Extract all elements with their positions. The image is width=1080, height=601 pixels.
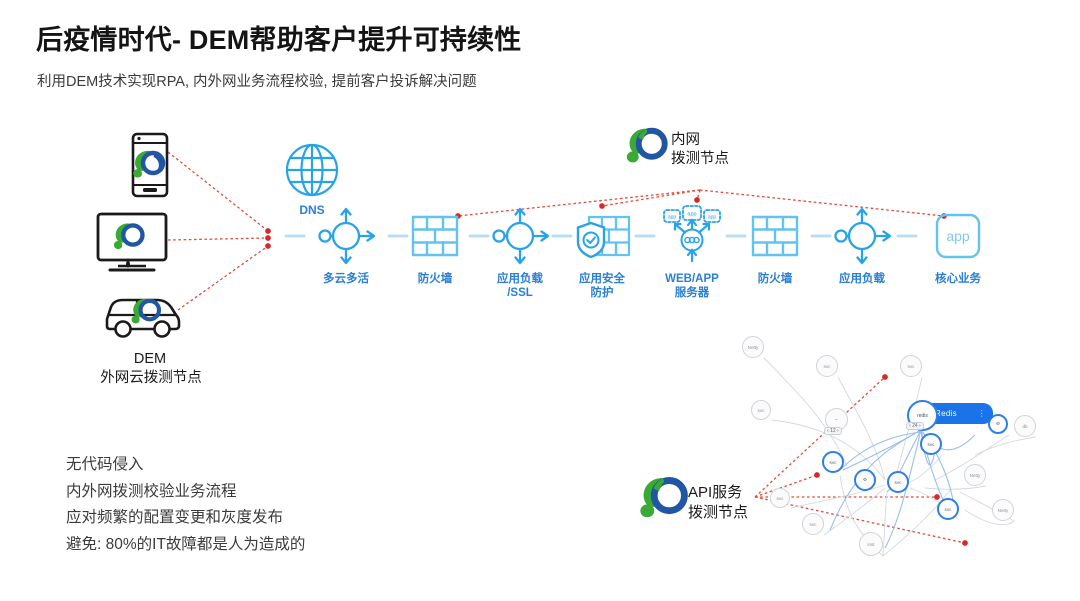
node-label-firewall1: 防火墙 [405, 272, 465, 286]
benefits-list: 无代码侵入 内外网拨测校验业务流程 应对频繁的配置变更和灰度发布 避免: 80%… [66, 452, 305, 558]
brick-wall-icon [413, 217, 457, 255]
node-label-appsec-2: 防护 [572, 286, 632, 300]
topology-node[interactable]: svc [822, 451, 844, 473]
node-label-appsec: 应用安全 [572, 272, 632, 286]
router-arrows-icon [494, 209, 549, 263]
internal-probe-line2: 拨测节点 [671, 150, 729, 169]
brand-logo-icon [640, 478, 684, 517]
topology-node[interactable]: svc [816, 355, 838, 377]
shield-wall-icon [578, 217, 629, 257]
app-servers-icon: app app app [664, 206, 720, 261]
probe-link-external [168, 152, 268, 310]
node-label-lb2: 应用负载 [832, 272, 892, 286]
topology-group-badge: ‹ 12 › [824, 427, 842, 435]
node-label-lb-ssl: 应用负载 [490, 272, 550, 286]
globe-icon [287, 145, 337, 195]
topology-node[interactable]: Netty [992, 499, 1014, 521]
node-label-webapp: WEB/APP [652, 272, 732, 286]
topology-node[interactable]: ⚙ [854, 469, 876, 491]
mobile-phone-icon [133, 134, 167, 196]
node-label-multicloud: 多云多活 [306, 272, 386, 286]
kebab-menu-icon[interactable]: ⋮ [978, 409, 986, 418]
dem-caption-line2: 外网云拨测节点 [80, 369, 222, 388]
topology-node[interactable]: svc [770, 488, 790, 508]
internal-probe-line1: 内网 [671, 131, 700, 150]
topology-node[interactable]: svc [937, 498, 959, 520]
car-icon [107, 299, 179, 337]
node-label-firewall2: 防火墙 [745, 272, 805, 286]
brick-wall-icon [753, 217, 797, 255]
node-label-webapp-2: 服务器 [652, 286, 732, 300]
router-arrows-icon [320, 209, 375, 263]
node-label-lb-ssl-2: /SSL [490, 286, 550, 300]
topology-node[interactable]: svc [900, 355, 922, 377]
topology-node[interactable]: svc [751, 400, 771, 420]
topology-node[interactable]: inst [859, 532, 883, 556]
topology-node[interactable]: svc [802, 513, 824, 535]
benefit-item: 避免: 80%的IT故障都是人为造成的 [66, 532, 305, 559]
topology-node[interactable]: svc [920, 433, 942, 455]
dns-label: DNS [292, 203, 332, 217]
app-box-icon: app [937, 215, 979, 257]
svg-text:app: app [708, 215, 717, 221]
benefit-item: 内外网拨测校验业务流程 [66, 479, 305, 506]
benefit-item: 应对频繁的配置变更和灰度发布 [66, 505, 305, 532]
slide-canvas: 后疫情时代- DEM帮助客户提升可持续性 利用DEM技术实现RPA, 内外网业务… [0, 0, 1080, 601]
topology-node[interactable]: db [1014, 415, 1036, 437]
node-label-core: 核心业务 [928, 272, 988, 286]
svg-text:app: app [668, 215, 677, 221]
monitor-icon [98, 214, 166, 270]
dem-caption-line1: DEM [120, 350, 180, 369]
benefit-item: 无代码侵入 [66, 452, 305, 479]
redis-node-label: Redis [935, 409, 957, 418]
svg-text:app: app [946, 228, 970, 244]
service-topology-map[interactable]: Netty svc svc svc svc svc svc ⚙ svc inst… [735, 330, 1080, 601]
router-arrows-icon [836, 209, 891, 263]
topology-node[interactable]: Netty [742, 336, 764, 358]
redis-node-badge: ‹ 24 › [906, 422, 924, 430]
brand-logo-icon [627, 129, 665, 163]
topology-node[interactable]: svc [887, 471, 909, 493]
topology-node[interactable]: Netty [964, 464, 986, 486]
svg-text:app: app [687, 212, 696, 218]
